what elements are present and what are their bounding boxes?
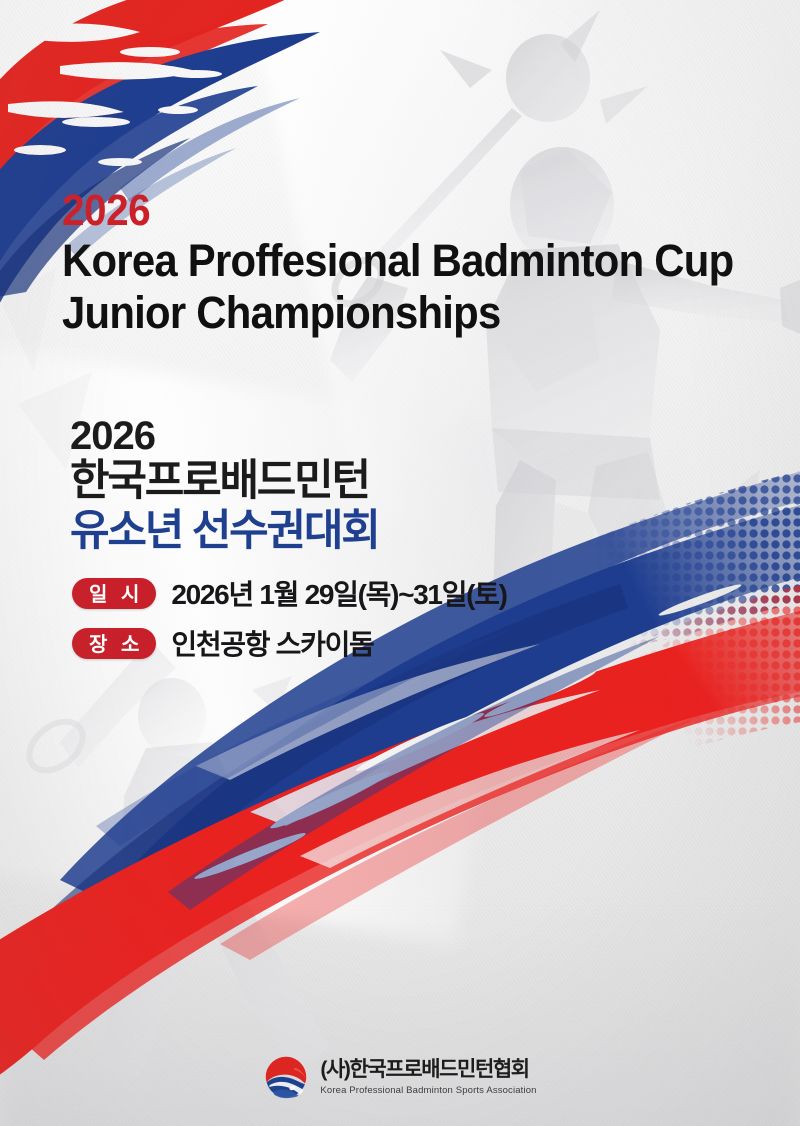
info-row-date: 일 시 2026년 1월 29일(목)~31일(토) [72, 573, 507, 613]
english-title-line1: Korea Proffesional Badminton Cup [62, 238, 733, 284]
organization-name-ko: (사)한국프로배드민턴협회 [320, 1058, 536, 1081]
date-label-badge: 일 시 [72, 578, 156, 609]
english-title-line2: Junior Championships [62, 290, 733, 336]
footer-text-block: (사)한국프로배드민턴협회 Korea Professional Badmint… [320, 1058, 536, 1095]
english-year: 2026 [62, 190, 726, 232]
date-value: 2026년 1월 29일(목)~31일(토) [171, 573, 506, 613]
korean-title-line1: 한국프로배드민턴 [70, 457, 379, 507]
organization-name-en: Korea Professional Badminton Sports Asso… [320, 1085, 536, 1096]
korean-title-block: 2026 한국프로배드민턴 유소년 선수권대회 [70, 415, 379, 557]
info-row-venue: 장 소 인천공항 스카이돔 [72, 623, 507, 663]
english-title-block: 2026 Korea Proffesional Badminton Cup Ju… [62, 190, 784, 336]
venue-value: 인천공항 스카이돔 [171, 623, 373, 663]
event-info-block: 일 시 2026년 1월 29일(목)~31일(토) 장 소 인천공항 스카이돔 [72, 573, 507, 673]
korean-title-line2: 유소년 선수권대회 [70, 507, 379, 557]
venue-label-badge: 장 소 [72, 628, 156, 659]
taegeuk-wave-circle-logo-icon [263, 1054, 309, 1100]
poster-canvas: 2026 Korea Proffesional Badminton Cup Ju… [0, 0, 800, 1126]
korean-year: 2026 [70, 415, 379, 457]
footer-organization: (사)한국프로배드민턴협회 Korea Professional Badmint… [0, 1054, 800, 1100]
